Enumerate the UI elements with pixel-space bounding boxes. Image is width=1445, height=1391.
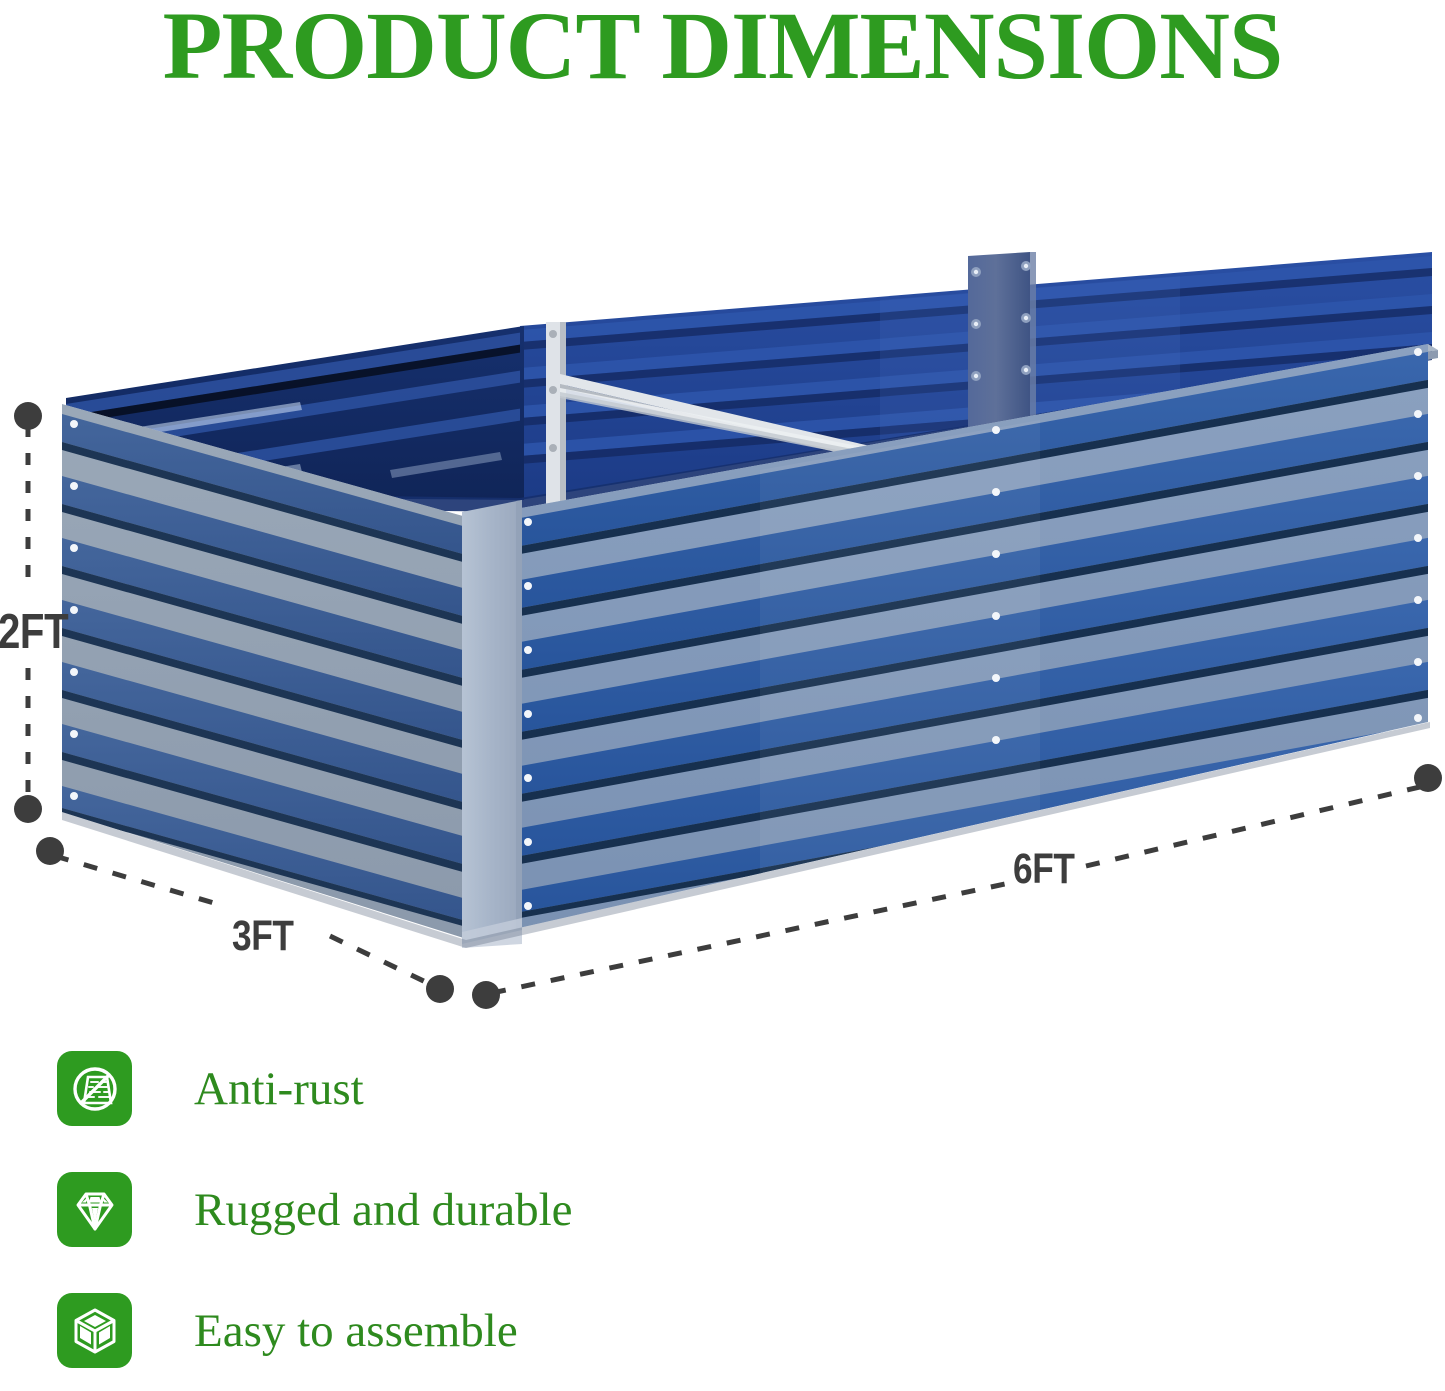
product-illustration: 2FT 3FT 6FT: [0, 0, 1445, 1030]
dimension-label-height: 2FT: [0, 604, 68, 660]
no-rust-icon: [69, 1063, 121, 1115]
diamond-icon: [69, 1184, 121, 1236]
garden-bed-drawing: [0, 0, 1445, 1030]
feature-label: Anti-rust: [194, 1063, 364, 1115]
rear-corner-post: [968, 252, 1036, 438]
feature-item-anti-rust: Anti-rust: [0, 1028, 1445, 1149]
feature-icon-badge: [57, 1172, 132, 1247]
dimension-label-width: 6FT: [1013, 845, 1074, 894]
feature-icon-badge: [57, 1293, 132, 1368]
feature-item-durable: Rugged and durable: [0, 1149, 1445, 1270]
feature-list: Anti-rust: [0, 1028, 1445, 1391]
feature-icon-badge: [57, 1051, 132, 1126]
dimension-label-depth: 3FT: [232, 912, 293, 961]
feature-item-easy-assembly: Easy to assemble: [0, 1270, 1445, 1391]
feature-label: Rugged and durable: [194, 1184, 573, 1236]
front-corner-post: [462, 500, 522, 948]
feature-label: Easy to assemble: [194, 1305, 518, 1357]
box-3d-icon: [69, 1305, 121, 1357]
